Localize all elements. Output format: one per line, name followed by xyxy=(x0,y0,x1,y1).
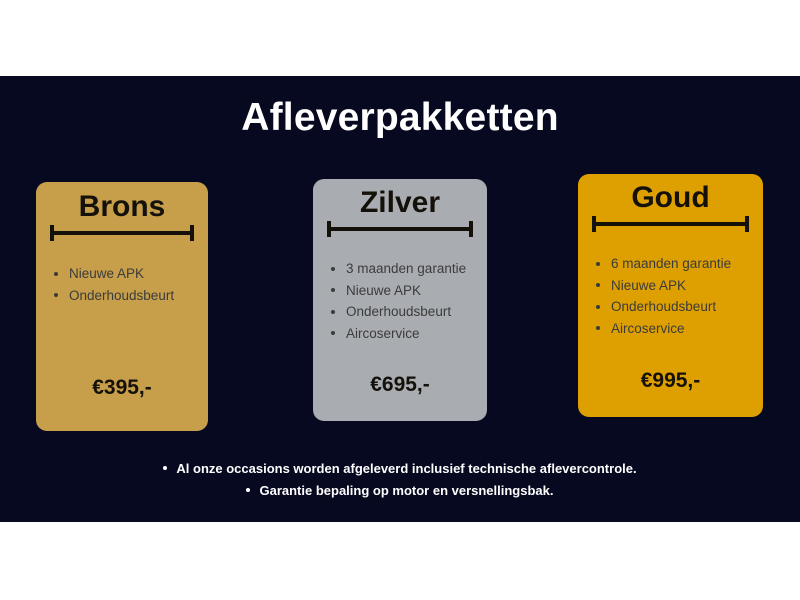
bullet-icon xyxy=(331,288,335,292)
list-item: Nieuwe APK xyxy=(327,281,487,301)
page-title: Afleverpakketten xyxy=(0,96,800,140)
package-title-goud: Goud xyxy=(578,181,763,215)
feature-label: Nieuwe APK xyxy=(69,266,144,281)
list-item: Nieuwe APK xyxy=(592,276,763,296)
bullet-icon xyxy=(163,466,167,470)
feature-label: Onderhoudsbeurt xyxy=(611,299,716,314)
feature-list-zilver: 3 maanden garantie Nieuwe APK Onderhouds… xyxy=(327,259,487,343)
feature-label: Aircoservice xyxy=(346,326,420,341)
feature-label: 3 maanden garantie xyxy=(346,261,466,276)
list-item: Aircoservice xyxy=(592,319,763,339)
bullet-icon xyxy=(596,305,600,309)
list-item: Onderhoudsbeurt xyxy=(50,286,208,306)
bullet-icon xyxy=(596,326,600,330)
package-card-zilver[interactable]: Zilver 3 maanden garantie Nieuwe APK Ond… xyxy=(313,179,487,421)
list-item: 6 maanden garantie xyxy=(592,254,763,274)
feature-list-brons: Nieuwe APK Onderhoudsbeurt xyxy=(50,264,208,305)
bullet-icon xyxy=(331,310,335,314)
dimension-rule-icon xyxy=(50,225,194,241)
list-item: Aircoservice xyxy=(327,324,487,344)
feature-label: Nieuwe APK xyxy=(611,278,686,293)
feature-label: 6 maanden garantie xyxy=(611,256,731,271)
bullet-icon xyxy=(596,262,600,266)
list-item: Onderhoudsbeurt xyxy=(592,297,763,317)
bullet-icon xyxy=(54,272,58,276)
package-price-brons: €395,- xyxy=(36,376,208,400)
footer-notes: Al onze occasions worden afgeleverd incl… xyxy=(0,458,800,502)
package-price-goud: €995,- xyxy=(578,369,763,393)
feature-label: Nieuwe APK xyxy=(346,283,421,298)
list-item: Nieuwe APK xyxy=(50,264,208,284)
feature-label: Aircoservice xyxy=(611,321,685,336)
dimension-rule-icon xyxy=(327,221,473,237)
slide-root: Afleverpakketten Brons Nieuwe APK Onderh… xyxy=(0,0,800,600)
bullet-icon xyxy=(246,488,250,492)
footer-note-label: Garantie bepaling op motor en versnellin… xyxy=(259,483,553,498)
feature-label: Onderhoudsbeurt xyxy=(69,288,174,303)
bullet-icon xyxy=(54,293,58,297)
bullet-icon xyxy=(331,267,335,271)
footer-note: Al onze occasions worden afgeleverd incl… xyxy=(0,458,800,480)
footer-note: Garantie bepaling op motor en versnellin… xyxy=(0,480,800,502)
list-item: Onderhoudsbeurt xyxy=(327,302,487,322)
feature-list-goud: 6 maanden garantie Nieuwe APK Onderhouds… xyxy=(592,254,763,338)
footer-note-label: Al onze occasions worden afgeleverd incl… xyxy=(176,461,636,476)
package-card-goud[interactable]: Goud 6 maanden garantie Nieuwe APK Onder… xyxy=(578,174,763,417)
dimension-rule-icon xyxy=(592,216,749,232)
package-title-zilver: Zilver xyxy=(313,186,487,220)
package-price-zilver: €695,- xyxy=(313,373,487,397)
list-item: 3 maanden garantie xyxy=(327,259,487,279)
bullet-icon xyxy=(331,331,335,335)
package-title-brons: Brons xyxy=(36,190,208,224)
bullet-icon xyxy=(596,283,600,287)
package-card-brons[interactable]: Brons Nieuwe APK Onderhoudsbeurt €395,- xyxy=(36,182,208,431)
feature-label: Onderhoudsbeurt xyxy=(346,304,451,319)
